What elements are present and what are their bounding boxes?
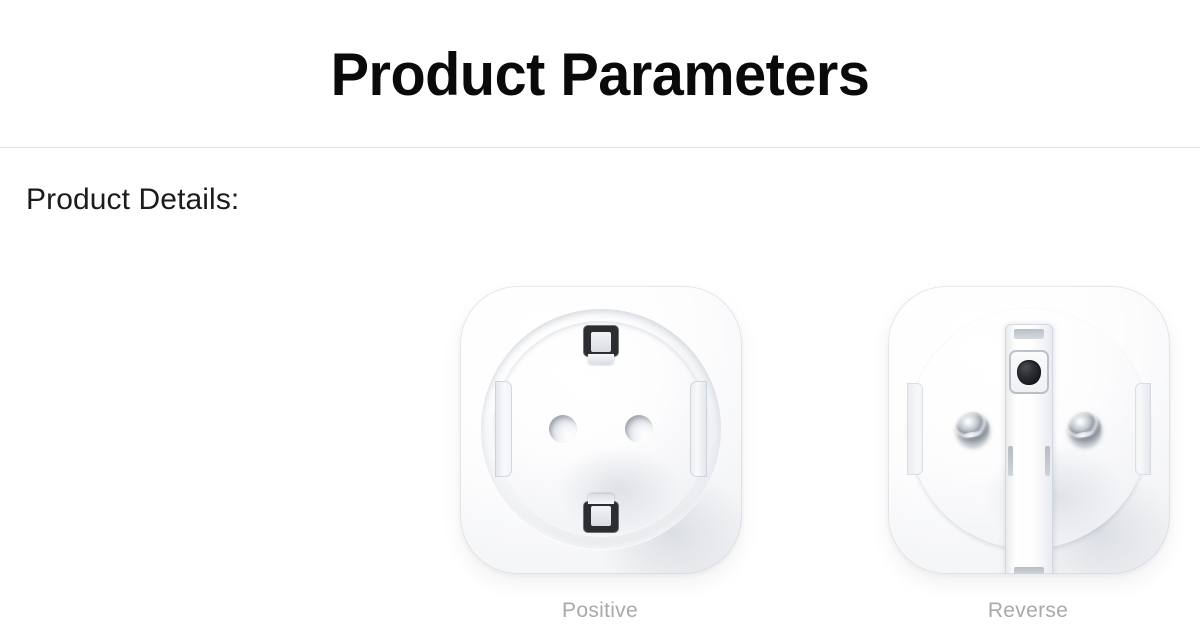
earth-hole [1017,360,1041,385]
product-figure-positive[interactable]: Positive [450,278,750,625]
earth-clip-tongue [588,494,614,504]
socket-plate [493,321,709,537]
socket-recess [481,309,721,549]
plug-disc-shadow [957,424,1154,568]
earth-rail [1005,324,1053,574]
earth-contact-clip-bottom [584,502,618,532]
socket-side-notch-right [690,381,707,477]
section-label-product-details: Product Details: [26,182,239,218]
socket-plate-shadow [532,429,705,550]
product-figure-reverse[interactable]: Reverse [878,278,1178,625]
earth-clip-tongue [588,354,614,364]
earth-rail-slot-top [1014,329,1044,339]
plug-disc-highlight [919,314,1087,434]
device-back-view [888,286,1170,574]
page-title: Product Parameters [24,42,1176,108]
plug-face-disc [909,309,1149,549]
plug-disc-flat-left [907,383,923,475]
earth-rail-slot-bottom [1014,567,1044,574]
earth-clip-blade [591,506,611,526]
plug-disc-flat-right [1135,383,1151,475]
device-front-view [460,286,742,574]
socket-pin-hole-right [625,415,653,443]
plug-pin-right [1068,412,1102,446]
product-parameters-page: Product Parameters Product Details: [0,0,1200,609]
socket-side-notch-left [495,381,512,477]
earth-hole-housing [1009,350,1049,394]
product-image-gallery: Positive [0,262,1200,609]
earth-contact-clip-top [584,326,618,356]
earth-rail-rib-right [1045,446,1050,476]
figure-caption-positive: Positive [450,599,750,623]
socket-pin-hole-left [549,415,577,443]
earth-rail-rib-left [1008,446,1013,476]
header-divider [0,147,1200,148]
earth-clip-blade [591,332,611,352]
plug-pin-left [956,412,990,446]
figure-caption-reverse: Reverse [878,599,1178,623]
